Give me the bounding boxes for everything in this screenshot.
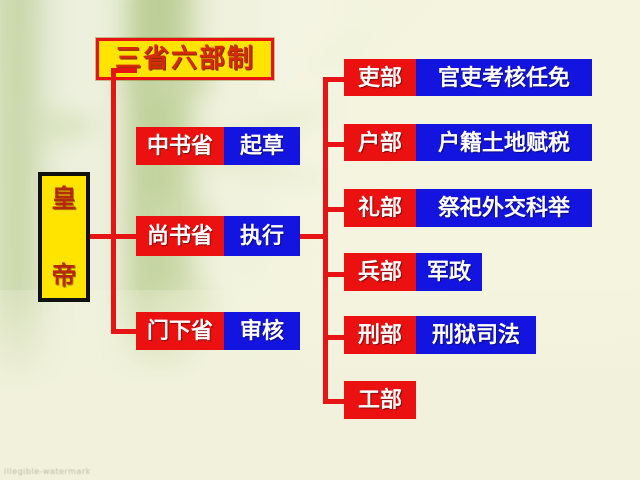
node-ministry-name-2[interactable]: 户部 <box>344 124 416 161</box>
background-bottom-fade <box>0 290 640 480</box>
ministry-name-6-text: 工部 <box>358 389 402 411</box>
node-ministry-name-3[interactable]: 礼部 <box>344 189 416 227</box>
diagram-canvas: 三省六部制 皇 帝 中书省 起草 尚书省 执行 门下省 审核 吏部 <box>0 0 640 480</box>
department-name-1-text: 中书省 <box>147 135 213 157</box>
node-ministry-duty-4[interactable]: 军政 <box>416 253 482 291</box>
diagram-title-banner: 三省六部制 <box>96 38 274 80</box>
node-department-function-1[interactable]: 起草 <box>224 127 300 165</box>
ministry-name-4-text: 兵部 <box>358 261 402 283</box>
node-ministry-name-5[interactable]: 刑部 <box>344 316 416 354</box>
ministry-name-2-text: 户部 <box>358 132 402 154</box>
node-ministry-duty-5[interactable]: 刑狱司法 <box>416 316 536 354</box>
department-function-3-text: 审核 <box>240 320 284 342</box>
ministry-duty-5-text: 刑狱司法 <box>432 324 520 346</box>
ministry-duty-4-text: 军政 <box>427 261 471 283</box>
ministry-duty-3-text: 祭祀外交科举 <box>438 197 570 219</box>
ministry-name-1-text: 吏部 <box>358 67 402 89</box>
node-department-function-2[interactable]: 执行 <box>224 216 300 256</box>
connector-department-spine <box>111 68 116 334</box>
ministry-duty-1-text: 官吏考核任免 <box>438 67 570 89</box>
watermark: illegible-watermark <box>4 467 91 476</box>
department-name-3-text: 门下省 <box>147 320 213 342</box>
node-ministry-duty-2[interactable]: 户籍土地赋税 <box>416 124 592 161</box>
node-ministry-name-6[interactable]: 工部 <box>344 381 416 419</box>
ministry-name-3-text: 礼部 <box>358 197 402 219</box>
connector-ministry-spine <box>323 77 328 402</box>
node-ministry-duty-3[interactable]: 祭祀外交科举 <box>416 189 592 227</box>
connector-branch-department-2 <box>111 234 137 239</box>
department-function-2-text: 执行 <box>240 225 284 247</box>
emperor-char-1: 皇 <box>51 186 76 211</box>
connector-branch-department-1 <box>111 68 137 73</box>
node-ministry-duty-1[interactable]: 官吏考核任免 <box>416 59 592 96</box>
emperor-char-2: 帝 <box>51 263 76 288</box>
node-department-name-2[interactable]: 尚书省 <box>136 216 224 256</box>
node-emperor[interactable]: 皇 帝 <box>38 172 90 302</box>
node-ministry-name-4[interactable]: 兵部 <box>344 253 416 291</box>
department-name-2-text: 尚书省 <box>147 225 213 247</box>
node-ministry-name-1[interactable]: 吏部 <box>344 59 416 96</box>
node-department-name-1[interactable]: 中书省 <box>136 127 224 165</box>
connector-branch-department-3 <box>111 329 137 334</box>
department-function-1-text: 起草 <box>240 135 284 157</box>
ministry-name-5-text: 刑部 <box>358 324 402 346</box>
node-department-function-3[interactable]: 审核 <box>224 312 300 350</box>
ministry-duty-2-text: 户籍土地赋税 <box>438 132 570 154</box>
node-department-name-3[interactable]: 门下省 <box>136 312 224 350</box>
